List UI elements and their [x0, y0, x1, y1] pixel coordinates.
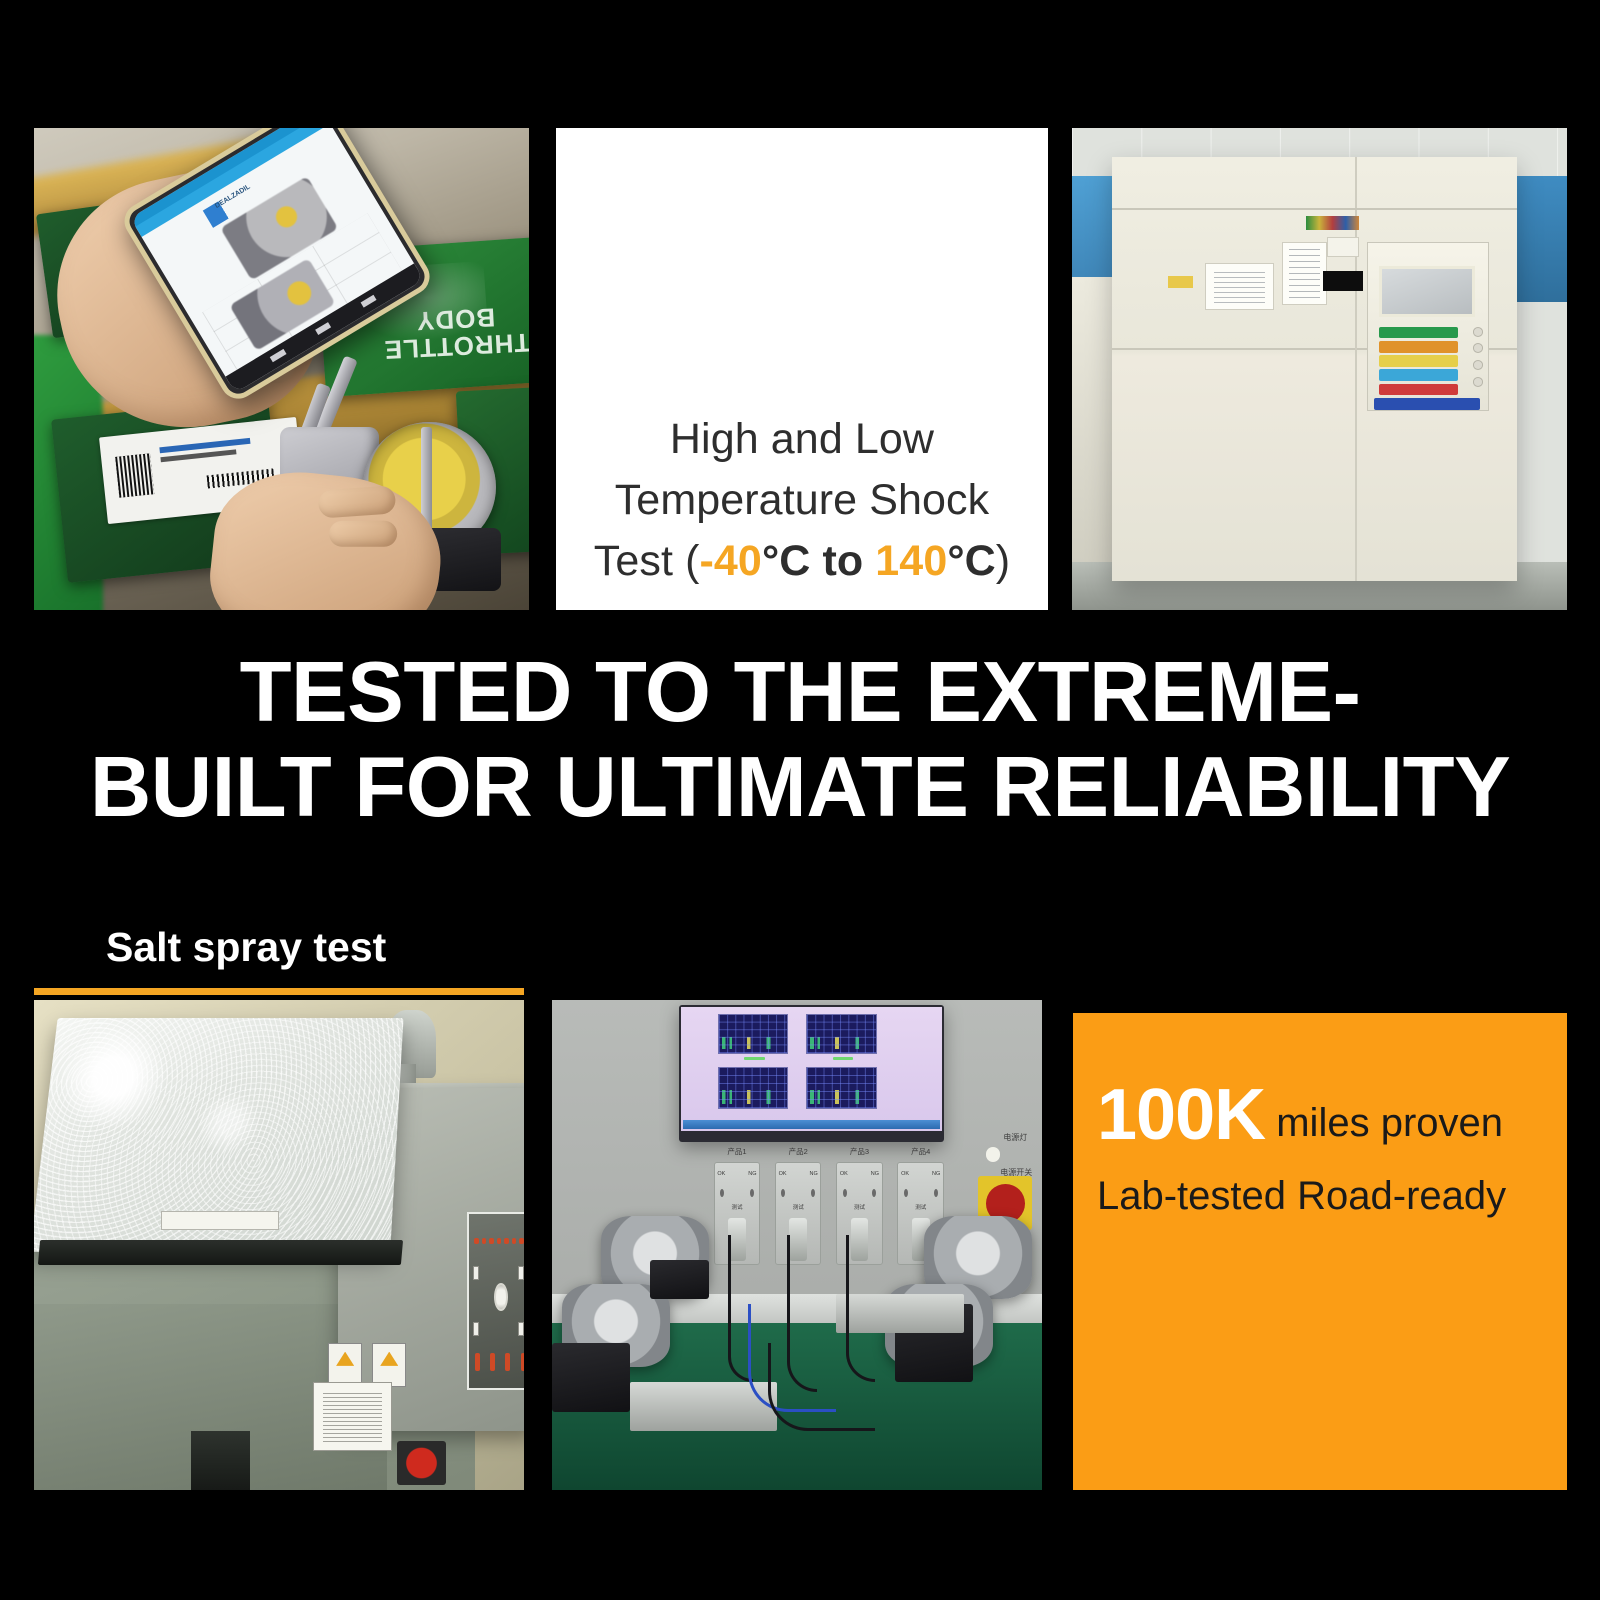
- inspection-sticker: [1327, 237, 1359, 256]
- control-button-green[interactable]: [1379, 327, 1458, 339]
- indicator-4: [497, 1238, 501, 1244]
- warning-sticker-2: [372, 1343, 406, 1387]
- station-3-label: 产品3: [837, 1146, 882, 1157]
- switch-right[interactable]: [518, 1322, 524, 1336]
- chamber-control-panel: [1367, 242, 1489, 412]
- indicator-3: [489, 1238, 493, 1244]
- power-lamp-label: 电源灯: [1003, 1132, 1027, 1143]
- station-3-led-ng: [872, 1189, 876, 1197]
- indicator-6: [512, 1238, 516, 1244]
- display-readout-left: [473, 1266, 479, 1280]
- fuse-2: [490, 1353, 494, 1370]
- control-button-blue[interactable]: [1374, 398, 1479, 410]
- station-1-ng: NG: [748, 1171, 756, 1177]
- photo-thermal-shock-chamber: [1072, 128, 1567, 610]
- mileage-value: 100K: [1097, 1075, 1265, 1155]
- mileage-headline: 100K miles proven: [1097, 1073, 1543, 1158]
- control-knob-4[interactable]: [1473, 377, 1484, 387]
- drain-vent: [191, 1431, 250, 1490]
- indicator-2: [482, 1238, 486, 1244]
- temp-high-value: 140: [875, 537, 947, 585]
- control-button-yellow[interactable]: [1379, 355, 1458, 367]
- station-4-led-ng: [934, 1189, 938, 1197]
- station-1-led-ng: [750, 1189, 754, 1197]
- control-knob-2[interactable]: [1473, 343, 1484, 353]
- waveform-plot-3: [718, 1067, 788, 1109]
- chamber-display: [1379, 266, 1475, 316]
- infographic-canvas: THROTTLE BODY DEALZADIL: [0, 0, 1600, 1600]
- station-3-ok: OK: [840, 1171, 848, 1177]
- status-bar-pass-2: [833, 1057, 854, 1061]
- temp-connector: to: [810, 537, 875, 585]
- temp-low-unit: °C: [762, 537, 810, 585]
- salt-spray-control-panel: [467, 1212, 524, 1390]
- indicator-7: [519, 1238, 523, 1244]
- station-2-label: 产品2: [776, 1146, 821, 1157]
- control-button-cyan[interactable]: [1379, 369, 1458, 381]
- temp-high-unit: °C: [947, 537, 995, 585]
- salt-spray-label-group: Salt spray test: [34, 925, 524, 970]
- chamber-cabinet: [1112, 157, 1518, 581]
- photo-salt-spray-chamber: [34, 1000, 524, 1490]
- yellow-sticker: [1168, 276, 1192, 289]
- lid-inner-strip: [161, 1211, 279, 1231]
- indicator-5: [504, 1238, 508, 1244]
- temperature-shock-card: High and Low Temperature Shock Test (-40…: [556, 128, 1048, 610]
- test-cable-bundle: [768, 1343, 876, 1431]
- pressure-gauge: [494, 1283, 508, 1311]
- station-4-label: 产品4: [898, 1146, 943, 1157]
- viewport-window: [1323, 271, 1364, 290]
- indicator-1: [474, 1238, 478, 1244]
- color-warning-sticker: [1306, 216, 1359, 230]
- display-readout-right: [518, 1266, 524, 1280]
- station-2-test-label: 测试: [776, 1203, 821, 1211]
- station-2-led-ok: [781, 1189, 785, 1197]
- mileage-card: 100K miles proven Lab-tested Road-ready: [1073, 1013, 1567, 1490]
- headline: TESTED TO THE EXTREME- BUILT FOR ULTIMAT…: [0, 645, 1600, 835]
- warning-sticker-1: [328, 1343, 362, 1387]
- temp-line-1: High and Low: [670, 415, 934, 463]
- mileage-subline: Lab-tested Road-ready: [1097, 1158, 1543, 1234]
- station-2-ok: OK: [779, 1171, 787, 1177]
- fixture-block-1: [552, 1343, 630, 1412]
- control-knob-3[interactable]: [1473, 360, 1484, 370]
- lid-edge: [38, 1240, 403, 1265]
- status-bar-pass-1: [744, 1057, 765, 1061]
- salt-spray-label: Salt spray test: [34, 925, 524, 970]
- test-monitor: [679, 1005, 944, 1142]
- fuse-4: [521, 1353, 524, 1370]
- fixture-block-2: [650, 1260, 709, 1299]
- station-3-test-label: 测试: [837, 1203, 882, 1211]
- station-3-ng: NG: [871, 1171, 879, 1177]
- station-3-led-ok: [843, 1189, 847, 1197]
- temp-low-value: -40: [700, 537, 762, 585]
- monitor-screen: [681, 1007, 942, 1131]
- control-button-red[interactable]: [1379, 384, 1458, 396]
- spec-sheet-1: [1205, 263, 1274, 310]
- fuse-1: [475, 1353, 479, 1370]
- temperature-shock-text: High and Low Temperature Shock Test (-40…: [594, 409, 1010, 592]
- mileage-suffix: miles proven: [1265, 1101, 1503, 1145]
- station-4-led-ok: [904, 1189, 908, 1197]
- station-2-ng: NG: [810, 1171, 818, 1177]
- control-button-orange[interactable]: [1379, 341, 1458, 353]
- headline-line-1: TESTED TO THE EXTREME-: [240, 645, 1361, 740]
- waveform-plot-1: [718, 1014, 788, 1054]
- temp-line-2: Temperature Shock: [615, 476, 990, 524]
- power-lamp-icon: [986, 1147, 1001, 1162]
- temp-line-3-suffix: ): [996, 537, 1010, 585]
- station-1-led-ok: [720, 1189, 724, 1197]
- station-2-led-ng: [811, 1189, 815, 1197]
- station-1-ok: OK: [717, 1171, 725, 1177]
- label-brand-bar: [160, 437, 251, 453]
- temp-line-3-prefix: Test (: [594, 537, 700, 585]
- instruction-plate: [313, 1382, 391, 1451]
- switch-left[interactable]: [473, 1322, 479, 1336]
- headline-line-2: BUILT FOR ULTIMATE RELIABILITY: [0, 740, 1600, 835]
- salt-spray-underline: [34, 988, 524, 995]
- fuse-3: [505, 1353, 509, 1370]
- spec-sheet-2: [1282, 242, 1327, 306]
- control-knob-1[interactable]: [1473, 327, 1484, 337]
- station-4-test-label: 测试: [898, 1203, 943, 1211]
- qr-code-icon: [115, 453, 155, 498]
- station-1-label: 产品1: [715, 1146, 760, 1157]
- photo-durability-test-bench: 产品1 OKNG 测试 产品2 OKNG 测试 产品3 OKNG 测试 产品4 …: [552, 1000, 1042, 1490]
- station-4-ng: NG: [932, 1171, 940, 1177]
- photo-product-in-hands: THROTTLE BODY DEALZADIL: [34, 128, 529, 610]
- station-1-test-label: 测试: [715, 1203, 760, 1211]
- waveform-plot-2: [806, 1014, 876, 1054]
- station-4-ok: OK: [901, 1171, 909, 1177]
- os-taskbar[interactable]: [683, 1120, 940, 1129]
- emergency-stop-button[interactable]: [397, 1441, 446, 1485]
- waveform-plot-4: [806, 1067, 876, 1109]
